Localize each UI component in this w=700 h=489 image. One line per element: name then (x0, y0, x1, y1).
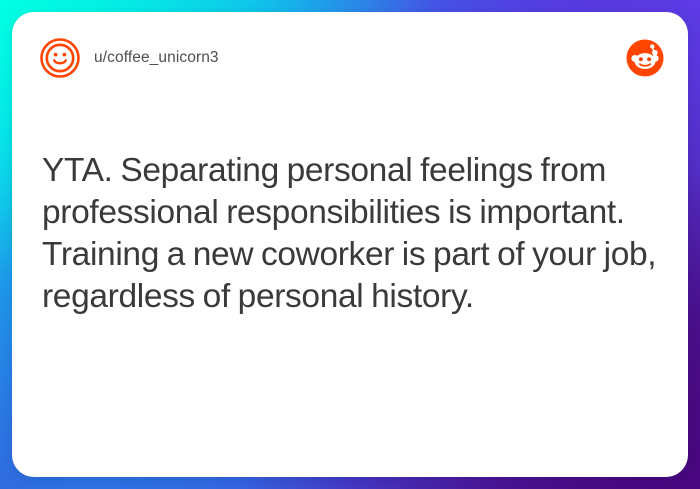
reddit-post-card: u/coffee_unicorn3 (12, 12, 688, 477)
screenshot-stage: u/coffee_unicorn3 (0, 0, 700, 489)
username-label: u/coffee_unicorn3 (94, 49, 219, 67)
avatar (40, 38, 80, 78)
brand-logo (626, 39, 664, 77)
post-header: u/coffee_unicorn3 (12, 12, 688, 104)
post-text: YTA. Separating personal feelings from p… (42, 150, 658, 318)
reddit-snoo-icon[interactable] (626, 39, 664, 77)
smiley-face-avatar-icon[interactable] (40, 38, 80, 78)
post-body: YTA. Separating personal feelings from p… (12, 104, 688, 477)
